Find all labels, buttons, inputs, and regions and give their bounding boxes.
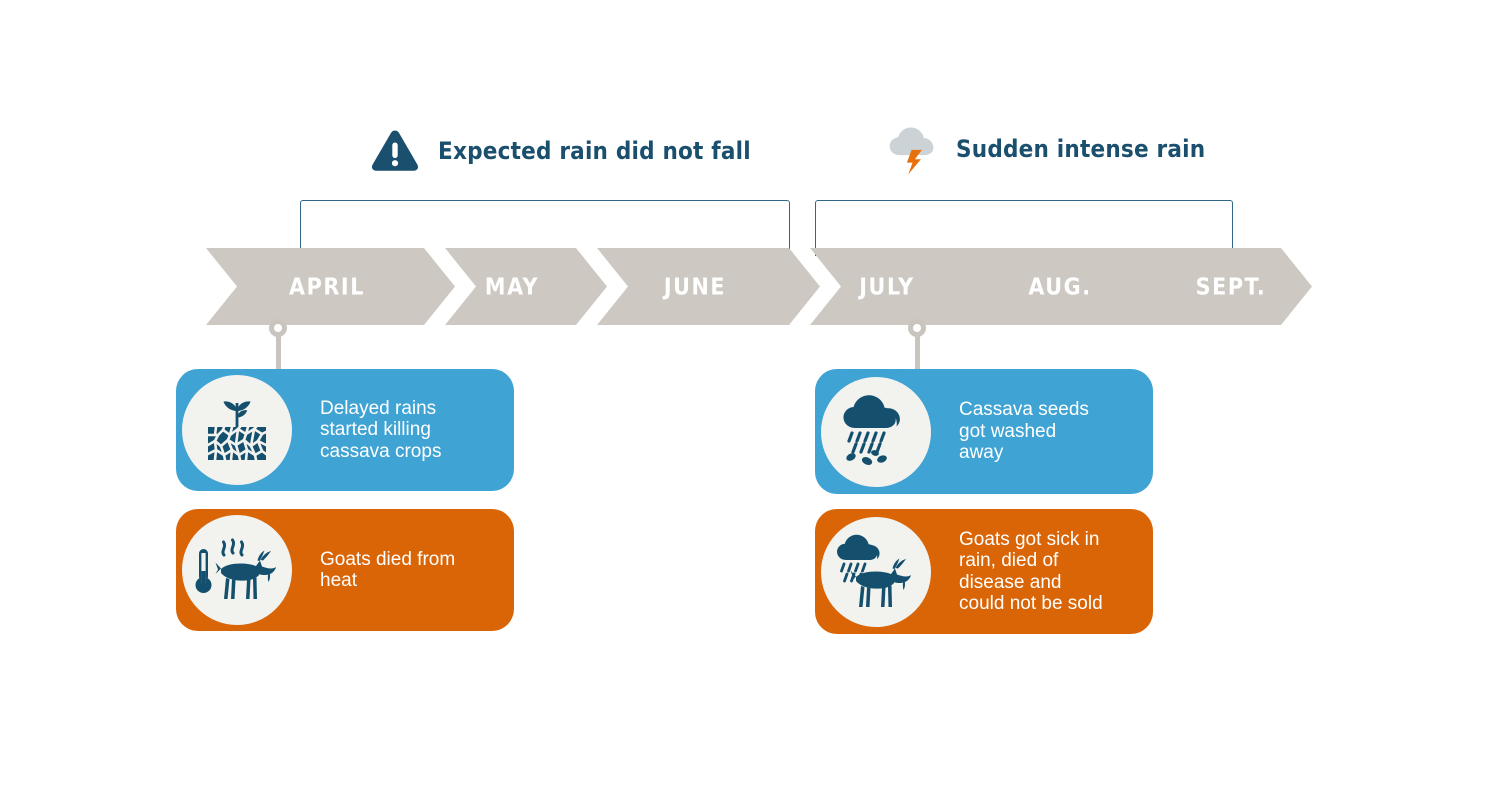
- storm-cloud-lightning-icon: [884, 120, 942, 178]
- warning-triangle-icon: [366, 122, 424, 180]
- card-text: Delayed rains started killing cassava cr…: [320, 398, 457, 462]
- rain-cloud-seeds-icon: [833, 387, 919, 477]
- month-label: JULY: [857, 275, 914, 301]
- pin-ring: [269, 319, 287, 337]
- infographic-canvas: Expected rain did not fall Sudden intens…: [0, 0, 1500, 800]
- impact-card-goats-died-heat[interactable]: Goats died from heat: [176, 509, 514, 631]
- timeline-chevron-april: APRIL: [206, 248, 455, 325]
- card-icon-circle: [815, 511, 937, 633]
- card-text: Cassava seeds got washed away: [959, 399, 1105, 463]
- thermometer-goat-heat-icon: [191, 527, 283, 613]
- pin-ring: [908, 319, 926, 337]
- phase-title: Sudden intense rain: [956, 135, 1205, 163]
- card-text: Goats got sick in rain, died of disease …: [959, 529, 1119, 615]
- month-label: SEPT.: [1196, 275, 1267, 301]
- month-label: MAY: [485, 275, 539, 301]
- month-label: JUNE: [662, 275, 726, 301]
- impact-card-cassava-seeds-washed-away[interactable]: Cassava seeds got washed away: [815, 369, 1153, 494]
- card-icon-circle: [176, 509, 298, 631]
- seedling-dry-cracked-soil-icon: [194, 387, 280, 473]
- phase-header-sudden-intense-rain: Sudden intense rain: [884, 120, 1205, 178]
- timeline-months: APRIL MAY JUNE JULY AUG.: [206, 248, 1312, 325]
- card-text: Goats died from heat: [320, 549, 471, 592]
- timeline-chevron-may: MAY: [445, 248, 607, 325]
- card-icon-circle: [176, 369, 298, 491]
- impact-card-delayed-rains-cassava[interactable]: Delayed rains started killing cassava cr…: [176, 369, 514, 491]
- month-label: APRIL: [289, 275, 365, 301]
- month-label: AUG.: [1028, 275, 1091, 301]
- phase-header-expected-rain-did-not-fall: Expected rain did not fall: [366, 122, 751, 180]
- card-icon-circle: [815, 371, 937, 493]
- rain-cloud-goat-icon: [830, 527, 922, 617]
- impact-card-goats-sick-in-rain[interactable]: Goats got sick in rain, died of disease …: [815, 509, 1153, 634]
- timeline-chevron-june: JUNE: [597, 248, 820, 325]
- phase-title: Expected rain did not fall: [438, 137, 751, 165]
